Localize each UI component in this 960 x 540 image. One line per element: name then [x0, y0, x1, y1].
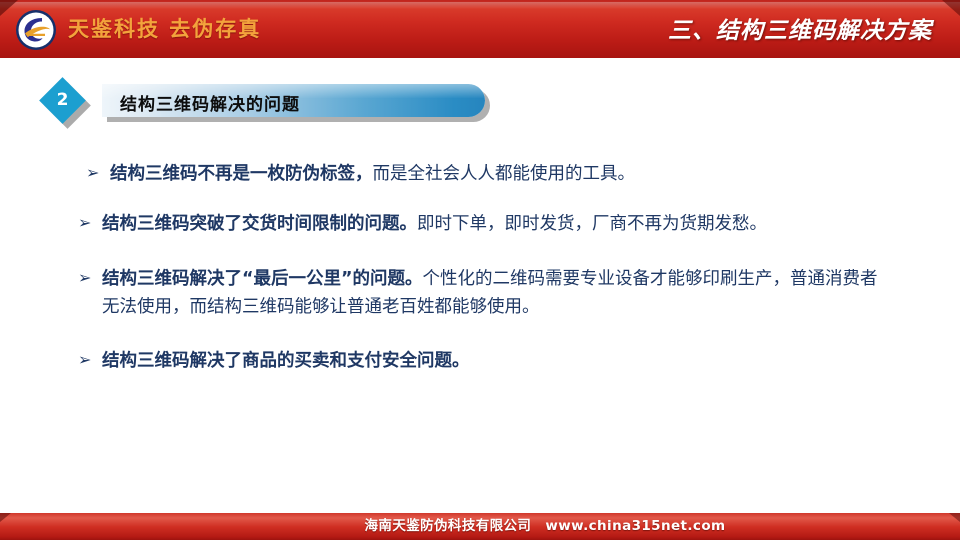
header-bevel-right: [942, 0, 960, 16]
footer-website-link[interactable]: www.china315net.com: [545, 518, 725, 534]
bullet-text-normal: 即时下单，即时发货，厂商不再为货期发愁。: [417, 214, 767, 234]
slide-footer-bar: 海南天鉴防伪科技有限公司www.china315net.com: [0, 513, 960, 540]
company-seal-icon: [15, 9, 57, 51]
bullet-text-bold: 结构三维码解决了“最后一公里”的问题。: [102, 269, 423, 289]
bullet-text-bold: 结构三维码解决了商品的买卖和支付安全问题。: [102, 351, 470, 371]
bullet-text: 结构三维码解决了商品的买卖和支付安全问题。: [102, 347, 878, 375]
bullet-text: 结构三维码突破了交货时间限制的问题。即时下单，即时发货，厂商不再为货期发愁。: [102, 210, 878, 238]
list-item: ➢ 结构三维码解决了“最后一公里”的问题。个性化的二维码需要专业设备才能够印刷生…: [78, 265, 878, 322]
arrowhead-bullet-icon: ➢: [78, 265, 102, 291]
list-item: ➢ 结构三维码不再是一枚防伪标签，而是全社会人人都能使用的工具。: [78, 160, 878, 188]
section-banner: 2 结构三维码解决的问题: [40, 82, 485, 122]
bullet-text-normal: 而是全社会人人都能使用的工具。: [373, 164, 636, 184]
slide-body: ➢ 结构三维码不再是一枚防伪标签，而是全社会人人都能使用的工具。 ➢ 结构三维码…: [78, 160, 878, 376]
bullet-text: 结构三维码解决了“最后一公里”的问题。个性化的二维码需要专业设备才能够印刷生产，…: [102, 265, 878, 322]
footer-company: 海南天鉴防伪科技有限公司: [365, 518, 532, 534]
list-item: ➢ 结构三维码解决了商品的买卖和支付安全问题。: [78, 347, 878, 375]
bullet-text-bold: 结构三维码不再是一枚防伪标签，: [110, 164, 373, 184]
arrowhead-bullet-icon: ➢: [86, 160, 110, 186]
arrowhead-bullet-icon: ➢: [78, 347, 102, 373]
bullet-text-bold: 结构三维码突破了交货时间限制的问题。: [102, 214, 417, 234]
page-title: 三、结构三维码解决方案: [668, 11, 932, 45]
arrowhead-bullet-icon: ➢: [78, 210, 102, 236]
section-title: 结构三维码解决的问题: [120, 90, 300, 115]
list-item: ➢ 结构三维码突破了交货时间限制的问题。即时下单，即时发货，厂商不再为货期发愁。: [78, 210, 878, 238]
section-number-label: 2: [46, 84, 79, 117]
brand-slogan: 天鉴科技 去伪存真: [68, 13, 261, 43]
header-gloss: [0, 2, 960, 9]
slide-header-bar: 天鉴科技 去伪存真 三、结构三维码解决方案: [0, 0, 960, 58]
footer-content: 海南天鉴防伪科技有限公司www.china315net.com: [0, 513, 960, 540]
bullet-text: 结构三维码不再是一枚防伪标签，而是全社会人人都能使用的工具。: [110, 160, 878, 188]
